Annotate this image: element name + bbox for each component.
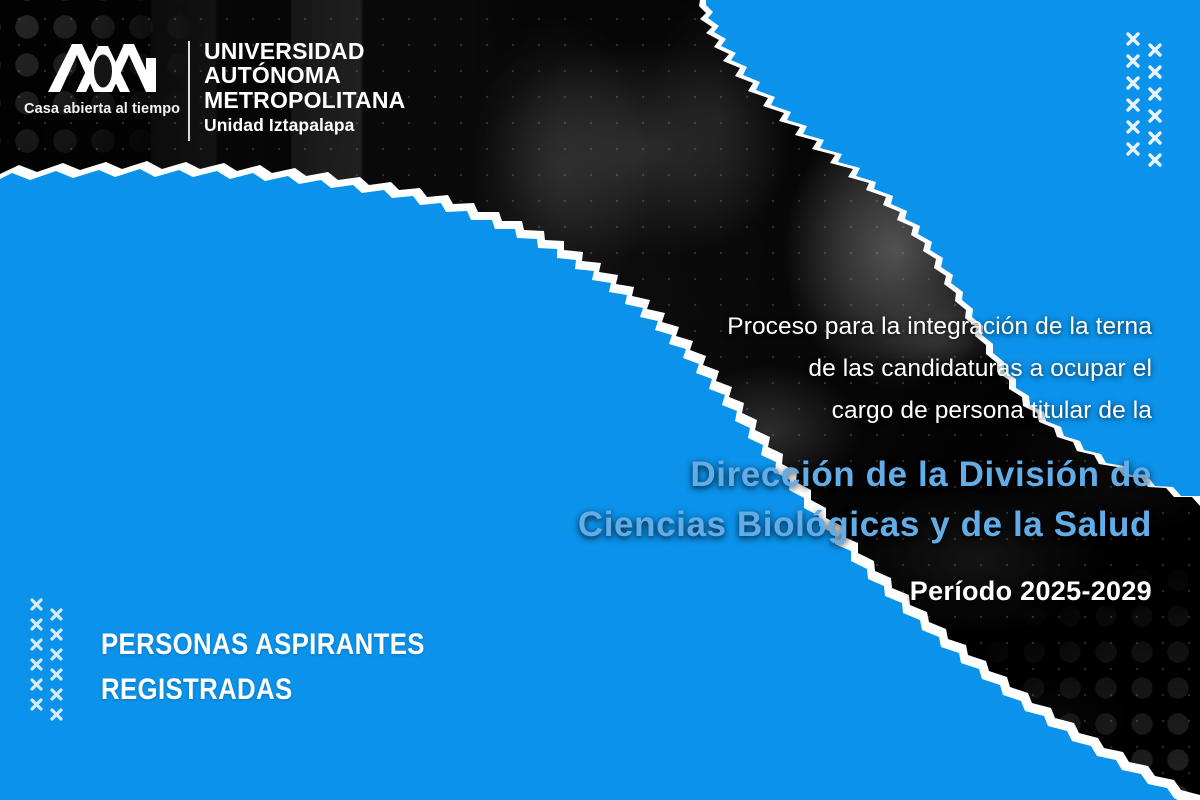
institution-line-2: AUTÓNOMA [204,63,406,87]
institution-unit: Unidad Iztapalapa [204,116,406,135]
aspirantes-line-1: PERSONAS ASPIRANTES [101,622,425,667]
lead-line-1: Proceso para la integración de la terna [512,306,1152,348]
logo-tagline: Casa abierta al tiempo [24,101,174,117]
institution-line-3: METROPOLITANA [204,88,406,112]
x-marks-bottom-left-icon [30,597,92,723]
aspirantes-line-2: REGISTRADAS [101,667,425,712]
headline: Dirección de la División de Ciencias Bio… [512,450,1152,549]
headline-line-1: Dirección de la División de [512,450,1152,500]
uam-logo-block: Casa abierta al tiempo UNIVERSIDAD AUTÓN… [24,38,406,141]
lead-line-3: cargo de persona titular de la [512,390,1152,432]
aspirantes-label: PERSONAS ASPIRANTES REGISTRADAS [101,622,425,712]
poster-canvas: Casa abierta al tiempo UNIVERSIDAD AUTÓN… [0,0,1200,800]
x-marks-top-right-icon [1126,30,1194,170]
period-label: Período 2025-2029 [512,576,1152,607]
lead-paragraph: Proceso para la integración de la terna … [512,306,1152,432]
uam-logo-mark: Casa abierta al tiempo [24,38,174,117]
institution-name: UNIVERSIDAD AUTÓNOMA METROPOLITANA Unida… [204,38,406,135]
institution-line-1: UNIVERSIDAD [204,39,406,63]
lead-line-2: de las candidaturas a ocupar el [512,348,1152,390]
logo-divider [188,41,190,141]
headline-line-2: Ciencias Biológicas y de la Salud [512,500,1152,550]
main-text-block: Proceso para la integración de la terna … [512,306,1152,607]
uam-monogram-icon [24,38,174,96]
